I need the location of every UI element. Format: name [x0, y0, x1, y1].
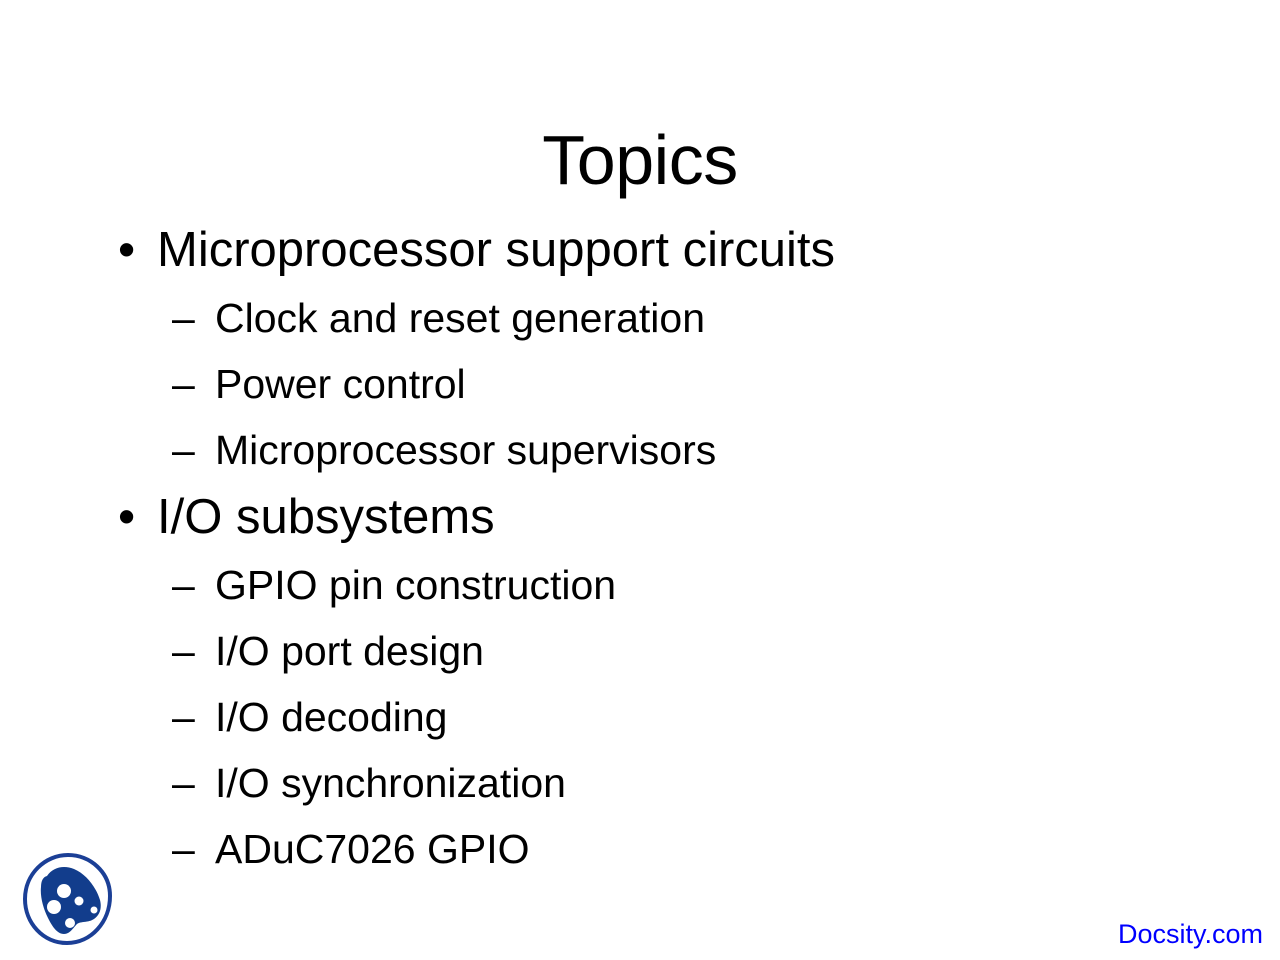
page-title: Topics — [0, 125, 1280, 195]
outline-item-label: I/O synchronization — [215, 750, 566, 816]
outline-item-l2: –Power control — [0, 351, 1180, 417]
docsity-logo-icon — [20, 850, 116, 950]
outline-item-label: Power control — [215, 351, 466, 417]
outline-item-l2: –GPIO pin construction — [0, 552, 1180, 618]
bullet-dash-icon: – — [172, 618, 215, 684]
outline-item-label: GPIO pin construction — [215, 552, 616, 618]
outline-item-l2: –Clock and reset generation — [0, 285, 1180, 351]
slide-canvas: Topics •Microprocessor support circuits–… — [0, 0, 1280, 960]
bullet-dash-icon: – — [172, 351, 215, 417]
outline-item-label: I/O decoding — [215, 684, 448, 750]
bullet-dash-icon: – — [172, 552, 215, 618]
topics-outline-list: •Microprocessor support circuits–Clock a… — [0, 216, 1180, 882]
outline-item-l2: –ADuC7026 GPIO — [0, 816, 1180, 882]
outline-item-label: I/O subsystems — [157, 483, 495, 552]
outline-item-label: Microprocessor supervisors — [215, 417, 716, 483]
docsity-logo — [20, 850, 116, 950]
outline-item-l2: –Microprocessor supervisors — [0, 417, 1180, 483]
bullet-dot-icon: • — [118, 216, 157, 285]
outline-item-label: ADuC7026 GPIO — [215, 816, 530, 882]
bullet-dash-icon: – — [172, 417, 215, 483]
outline-item-label: Clock and reset generation — [215, 285, 705, 351]
outline-item-label: I/O port design — [215, 618, 484, 684]
bullet-dot-icon: • — [118, 483, 157, 552]
outline-item-l2: –I/O decoding — [0, 684, 1180, 750]
outline-item-l2: –I/O port design — [0, 618, 1180, 684]
bullet-dash-icon: – — [172, 750, 215, 816]
bullet-dash-icon: – — [172, 816, 215, 882]
bullet-dash-icon: – — [172, 684, 215, 750]
bullet-dash-icon: – — [172, 285, 215, 351]
footer-brand-text: Docsity.com — [1118, 919, 1263, 949]
outline-item-l1: •I/O subsystems — [0, 483, 1180, 552]
outline-item-label: Microprocessor support circuits — [157, 216, 835, 285]
outline-item-l2: –I/O synchronization — [0, 750, 1180, 816]
outline-item-l1: •Microprocessor support circuits — [0, 216, 1180, 285]
